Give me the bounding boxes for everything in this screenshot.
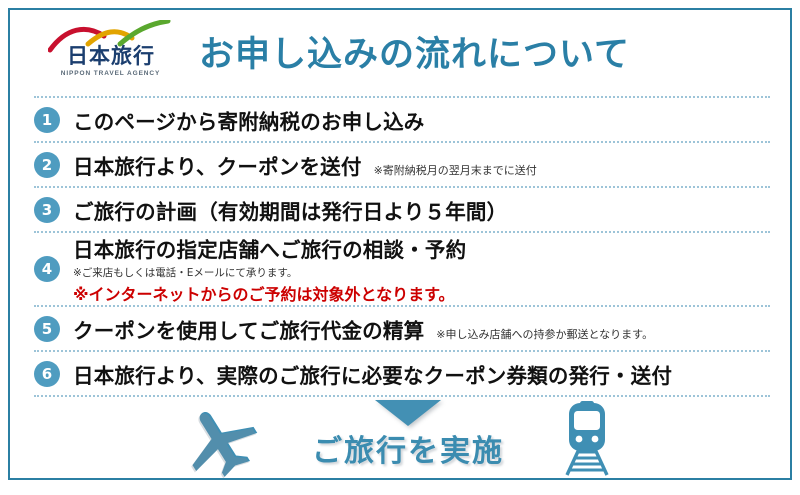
step-body: このページから寄附納税のお申し込み <box>73 105 770 135</box>
step-line: 日本旅行の指定店舗へご旅行の相談・予約 <box>73 233 770 263</box>
step-body: ご旅行の計画（有効期間は発行日より５年間） <box>73 195 770 225</box>
footer-center: ご旅行を実施 <box>283 398 533 480</box>
step-warning-text: ※インターネットからのご予約は対象外となります。 <box>73 281 770 305</box>
step-main-text: クーポンを使用してご旅行代金の精算 <box>73 314 424 344</box>
step-line: 日本旅行より、実際のご旅行に必要なクーポン券類の発行・送付 <box>73 359 770 389</box>
step-number-badge: 3 <box>34 197 60 223</box>
step-body: クーポンを使用してご旅行代金の精算 ※申し込み店舗への持参か郵送となります。 <box>73 314 770 344</box>
poster-footer: ご旅行を実施 <box>10 396 790 482</box>
step-main-text: 日本旅行より、クーポンを送付 <box>73 150 362 180</box>
step-body: 日本旅行より、実際のご旅行に必要なクーポン券類の発行・送付 <box>73 359 770 389</box>
step-number-badge: 2 <box>34 152 60 178</box>
step-main-text: 日本旅行の指定店舗へご旅行の相談・予約 <box>73 233 466 263</box>
step-item-4: 4 日本旅行の指定店舗へご旅行の相談・予約 ※ご来店もしくは電話・Eメールにて承… <box>34 233 770 305</box>
steps-list: 1 このページから寄附納税のお申し込み 2 日本旅行より、クーポンを送付 ※寄附… <box>34 96 770 397</box>
step-item-6: 6 日本旅行より、実際のご旅行に必要なクーポン券類の発行・送付 <box>34 352 770 395</box>
step-item-5: 5 クーポンを使用してご旅行代金の精算 ※申し込み店舗への持参か郵送となります。 <box>34 307 770 350</box>
step-number-badge: 4 <box>34 256 60 282</box>
step-body: 日本旅行の指定店舗へご旅行の相談・予約 ※ご来店もしくは電話・Eメールにて承りま… <box>73 233 770 305</box>
step-main-text: ご旅行の計画（有効期間は発行日より５年間） <box>73 195 507 225</box>
step-sub-note-text: ※ご来店もしくは電話・Eメールにて承ります。 <box>73 265 770 280</box>
step-line: クーポンを使用してご旅行代金の精算 ※申し込み店舗への持参か郵送となります。 <box>73 314 770 344</box>
step-number-badge: 6 <box>34 361 60 387</box>
step-item-2: 2 日本旅行より、クーポンを送付 ※寄附納税月の翌月末までに送付 <box>34 143 770 186</box>
application-flow-poster: 日本旅行 NIPPON TRAVEL AGENCY お申し込みの流れについて 1… <box>0 0 800 495</box>
page-title: お申し込みの流れについて <box>199 26 790 77</box>
step-number-badge: 5 <box>34 316 60 342</box>
footer-text: ご旅行を実施 <box>283 426 533 470</box>
step-note-text: ※寄附納税月の翌月末までに送付 <box>374 162 537 178</box>
train-icon <box>547 399 627 479</box>
step-item-3: 3 ご旅行の計画（有効期間は発行日より５年間） <box>34 188 770 231</box>
step-main-text: このページから寄附納税のお申し込み <box>73 105 425 135</box>
step-line: このページから寄附納税のお申し込み <box>73 105 770 135</box>
step-note-text: ※申し込み店舗への持参か郵送となります。 <box>436 326 653 342</box>
step-number-badge: 1 <box>34 107 60 133</box>
step-line: 日本旅行より、クーポンを送付 ※寄附納税月の翌月末までに送付 <box>73 150 770 180</box>
step-main-text: 日本旅行より、実際のご旅行に必要なクーポン券類の発行・送付 <box>73 359 672 389</box>
poster-header: 日本旅行 NIPPON TRAVEL AGENCY お申し込みの流れについて <box>10 12 790 90</box>
step-item-1: 1 このページから寄附納税のお申し込み <box>34 98 770 141</box>
airplane-icon <box>173 399 269 479</box>
nippon-travel-agency-logo: 日本旅行 NIPPON TRAVEL AGENCY <box>48 20 173 82</box>
step-line: ご旅行の計画（有効期間は発行日より５年間） <box>73 195 770 225</box>
step-body: 日本旅行より、クーポンを送付 ※寄附納税月の翌月末までに送付 <box>73 150 770 180</box>
logo-en-name: NIPPON TRAVEL AGENCY <box>48 70 173 77</box>
arrow-down-icon <box>375 400 441 426</box>
logo-jp-name: 日本旅行 <box>56 46 166 67</box>
